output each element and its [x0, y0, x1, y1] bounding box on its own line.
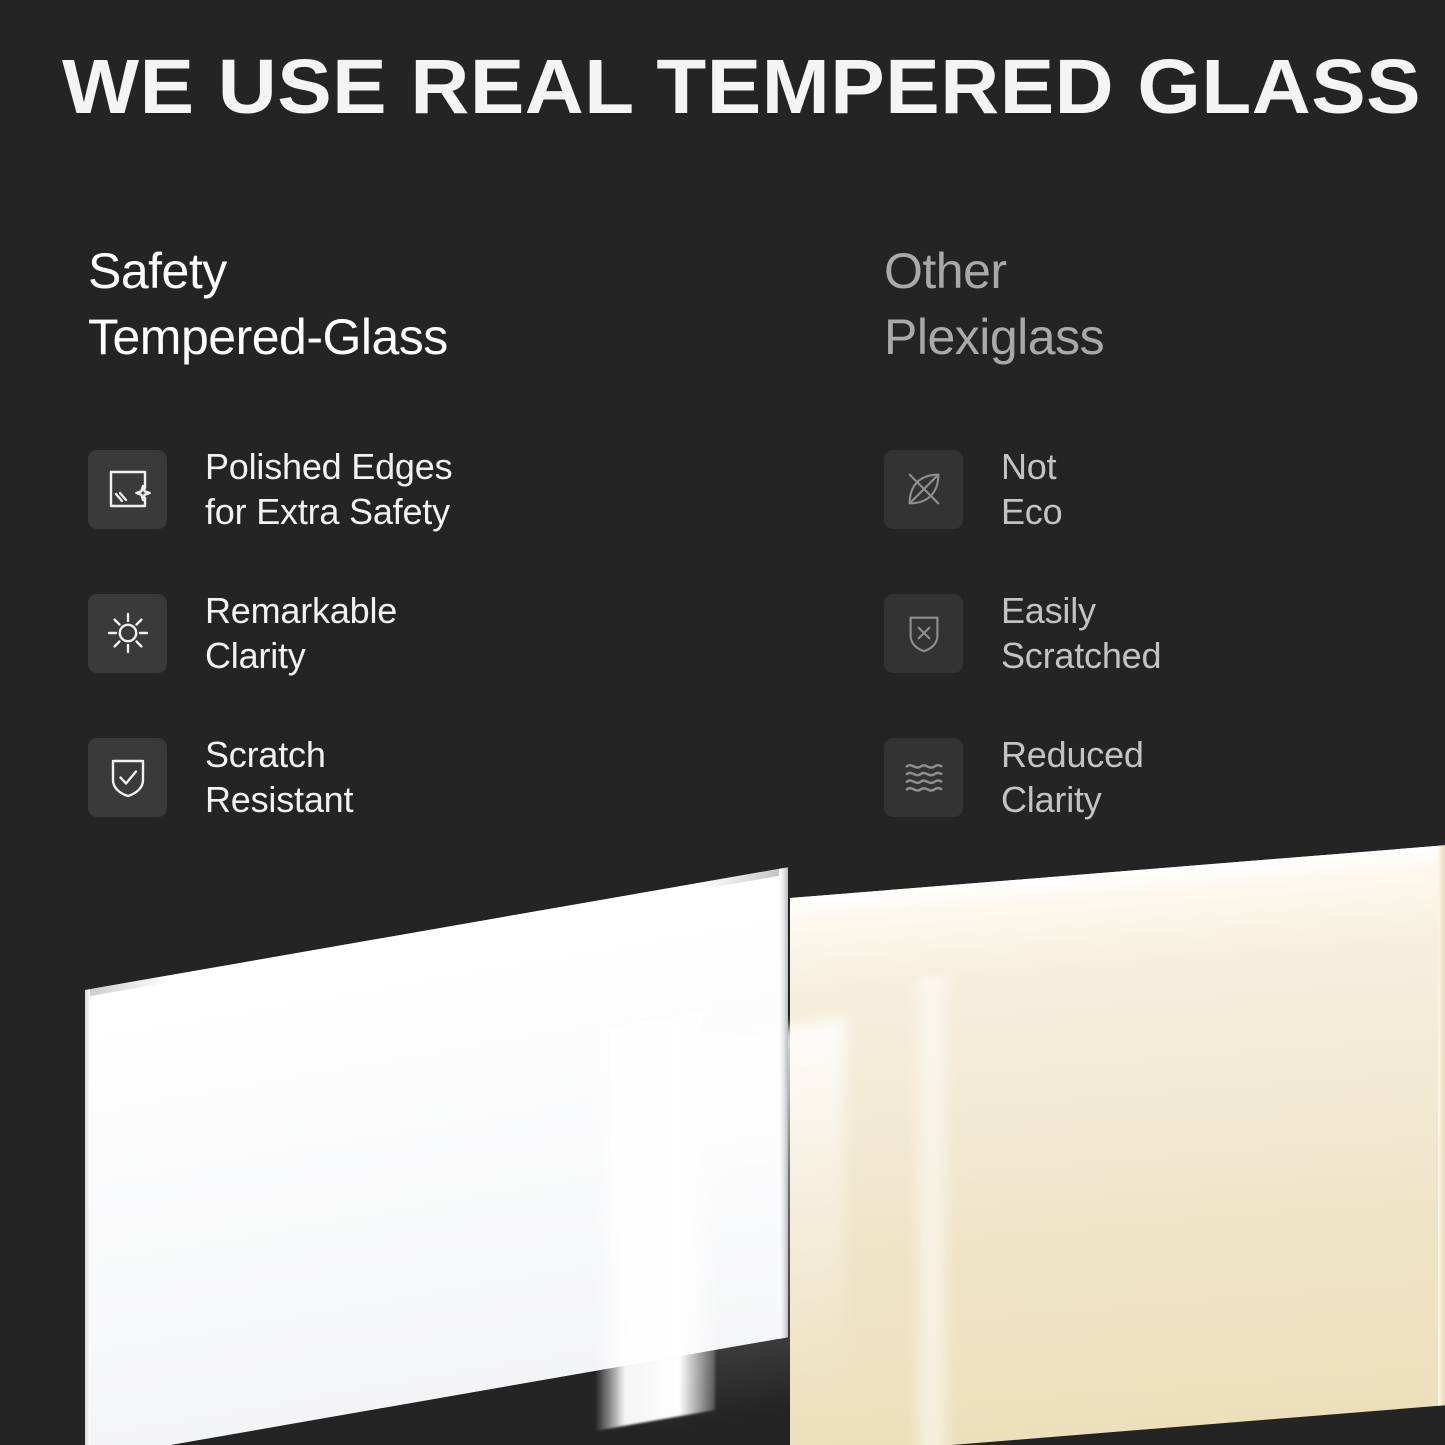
feature-row: Reduced Clarity [884, 736, 1161, 818]
feature-label: Remarkable Clarity [205, 588, 397, 678]
feature-label: Scratch Resistant [205, 732, 353, 822]
bad-feature-list: Not Eco Easily Scratched [884, 448, 1161, 818]
bad-column-title: Other Plexiglass [884, 238, 1424, 370]
good-feature-list: Polished Edges for Extra Safety Remarkab… [88, 448, 452, 818]
good-column-header: Safety Tempered-Glass [88, 238, 848, 370]
shield-check-icon [88, 738, 167, 817]
feature-row: Polished Edges for Extra Safety [88, 448, 452, 530]
feature-label: Easily Scratched [1001, 588, 1161, 678]
sun-brightness-icon [88, 594, 167, 673]
plexi-right-edge [1438, 845, 1445, 1406]
product-photo [0, 840, 1445, 1445]
glass-polished-top-edge [85, 867, 788, 997]
plexiglass-yellowed-panel [790, 845, 1445, 1445]
feature-label: Polished Edges for Extra Safety [205, 444, 452, 534]
tempered-glass-clear-panel [85, 867, 788, 1445]
plexi-glare [910, 975, 954, 1445]
feature-row: Not Eco [884, 448, 1161, 530]
shield-x-icon [884, 594, 963, 673]
feature-row: Scratch Resistant [88, 736, 452, 818]
product-comparison-infographic: WE USE REAL TEMPERED GLASS Safety Temper… [0, 0, 1445, 1445]
feature-label: Reduced Clarity [1001, 732, 1144, 822]
good-column-title: Safety Tempered-Glass [88, 238, 848, 370]
bad-column-header: Other Plexiglass [884, 238, 1424, 370]
leaf-crossed-out-icon [884, 450, 963, 529]
feature-row: Easily Scratched [884, 592, 1161, 674]
feature-row: Remarkable Clarity [88, 592, 452, 674]
wavy-lines-distortion-icon [884, 738, 963, 817]
glass-left-edge [85, 989, 90, 1445]
page-title: WE USE REAL TEMPERED GLASS [62, 44, 1445, 130]
polished-glass-sparkle-icon [88, 450, 167, 529]
feature-label: Not Eco [1001, 444, 1062, 534]
glass-polished-right-edge [779, 867, 788, 1339]
glass-reflection-band [595, 1010, 715, 1431]
